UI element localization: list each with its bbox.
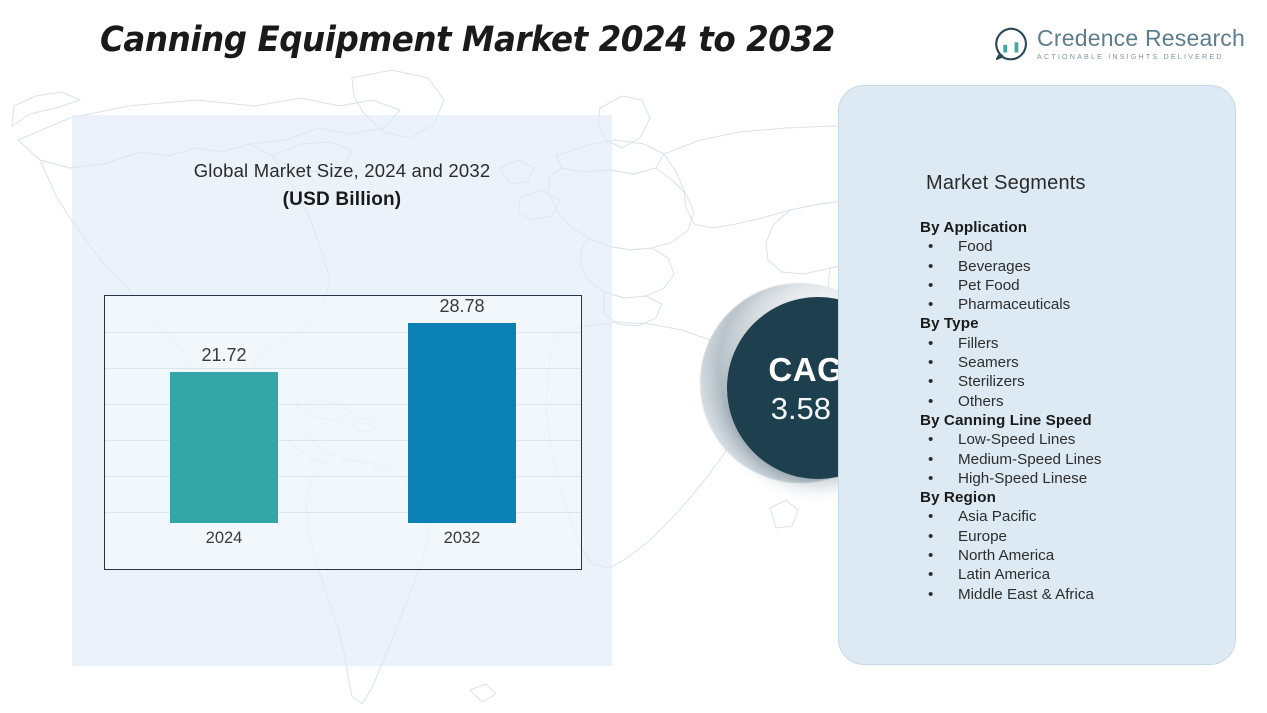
segment-item-label: Seamers bbox=[958, 354, 1019, 371]
segment-list-item[interactable]: •Middle East & Africa bbox=[920, 585, 1220, 604]
segment-item-label: Fillers bbox=[958, 335, 999, 352]
segment-list-item[interactable]: •Sterilizers bbox=[920, 372, 1220, 391]
brand-logo: Credence Research Actionable Insights De… bbox=[994, 26, 1245, 61]
segment-item-label: North America bbox=[958, 547, 1054, 564]
segments-title: Market Segments bbox=[926, 172, 1086, 195]
segment-list-item[interactable]: •Beverages bbox=[920, 257, 1220, 276]
bar-chart-plot: 21.7228.78 20242032 bbox=[104, 295, 582, 570]
segment-list-item[interactable]: •Medium-Speed Lines bbox=[920, 450, 1220, 469]
category-label: 2032 bbox=[343, 529, 581, 548]
logo-company-name: Credence Research bbox=[1037, 26, 1245, 50]
bullet-icon: • bbox=[928, 392, 933, 411]
chart-bars-area: 21.7228.78 bbox=[105, 296, 581, 523]
segment-item-label: Asia Pacific bbox=[958, 508, 1037, 525]
bullet-icon: • bbox=[928, 450, 933, 469]
bullet-icon: • bbox=[928, 507, 933, 526]
bar-value-label: 28.78 bbox=[439, 296, 484, 317]
segment-group-heading: By Canning Line Speed bbox=[920, 411, 1220, 430]
segment-list-item[interactable]: •Others bbox=[920, 392, 1220, 411]
logo-text-block: Credence Research Actionable Insights De… bbox=[1037, 26, 1245, 61]
segment-item-label: Food bbox=[958, 238, 993, 255]
bullet-icon: • bbox=[928, 295, 933, 314]
segment-item-label: Low-Speed Lines bbox=[958, 431, 1075, 448]
segment-list-item[interactable]: •Latin America bbox=[920, 565, 1220, 584]
segment-list-item[interactable]: •Pharmaceuticals bbox=[920, 295, 1220, 314]
segment-list-item[interactable]: •Food bbox=[920, 237, 1220, 256]
bullet-icon: • bbox=[928, 257, 933, 276]
bullet-icon: • bbox=[928, 237, 933, 256]
bullet-icon: • bbox=[928, 585, 933, 604]
bullet-icon: • bbox=[928, 469, 933, 488]
chart-subtitle: (USD Billion) bbox=[72, 189, 612, 211]
chart-category-labels: 20242032 bbox=[105, 529, 581, 557]
segment-list-item[interactable]: •Low-Speed Lines bbox=[920, 430, 1220, 449]
bullet-icon: • bbox=[928, 334, 933, 353]
bullet-icon: • bbox=[928, 527, 933, 546]
segment-list-item[interactable]: •Seamers bbox=[920, 353, 1220, 372]
segment-item-label: Sterilizers bbox=[958, 373, 1025, 390]
cagr-value: 3.58 bbox=[771, 393, 831, 424]
segment-list-item[interactable]: •Asia Pacific bbox=[920, 507, 1220, 526]
bar-2032 bbox=[408, 323, 516, 523]
bullet-icon: • bbox=[928, 546, 933, 565]
infographic-root: Canning Equipment Market 2024 to 2032 Cr… bbox=[0, 0, 1267, 713]
bar-slot: 21.72 bbox=[105, 296, 343, 523]
bar-2024 bbox=[170, 372, 278, 523]
segment-item-label: Europe bbox=[958, 528, 1007, 545]
bullet-icon: • bbox=[928, 276, 933, 295]
segment-item-label: High-Speed Linese bbox=[958, 470, 1087, 487]
segments-list: By Application•Food•Beverages•Pet Food•P… bbox=[920, 218, 1220, 604]
segment-group-heading: By Application bbox=[920, 218, 1220, 237]
segment-item-label: Others bbox=[958, 393, 1004, 410]
segment-group-heading: By Region bbox=[920, 488, 1220, 507]
bullet-icon: • bbox=[928, 430, 933, 449]
segment-group-heading: By Type bbox=[920, 314, 1220, 333]
logo-tagline: Actionable Insights Delivered bbox=[1037, 52, 1245, 61]
bar-chart-circle-icon bbox=[994, 27, 1028, 61]
segment-list-item[interactable]: •North America bbox=[920, 546, 1220, 565]
bar-value-label: 21.72 bbox=[201, 345, 246, 366]
bullet-icon: • bbox=[928, 372, 933, 391]
chart-title: Global Market Size, 2024 and 2032 bbox=[72, 160, 612, 182]
segment-item-label: Medium-Speed Lines bbox=[958, 451, 1102, 468]
segment-list-item[interactable]: •Europe bbox=[920, 527, 1220, 546]
segment-list-item[interactable]: •Pet Food bbox=[920, 276, 1220, 295]
segment-item-label: Pet Food bbox=[958, 277, 1020, 294]
bar-slot: 28.78 bbox=[343, 296, 581, 523]
segment-item-label: Middle East & Africa bbox=[958, 586, 1094, 603]
segment-item-label: Beverages bbox=[958, 258, 1031, 275]
category-label: 2024 bbox=[105, 529, 343, 548]
bullet-icon: • bbox=[928, 565, 933, 584]
segment-item-label: Pharmaceuticals bbox=[958, 296, 1070, 313]
segment-list-item[interactable]: •Fillers bbox=[920, 334, 1220, 353]
segment-list-item[interactable]: •High-Speed Linese bbox=[920, 469, 1220, 488]
bullet-icon: • bbox=[928, 353, 933, 372]
segment-item-label: Latin America bbox=[958, 566, 1050, 583]
page-title: Canning Equipment Market 2024 to 2032 bbox=[100, 20, 835, 60]
